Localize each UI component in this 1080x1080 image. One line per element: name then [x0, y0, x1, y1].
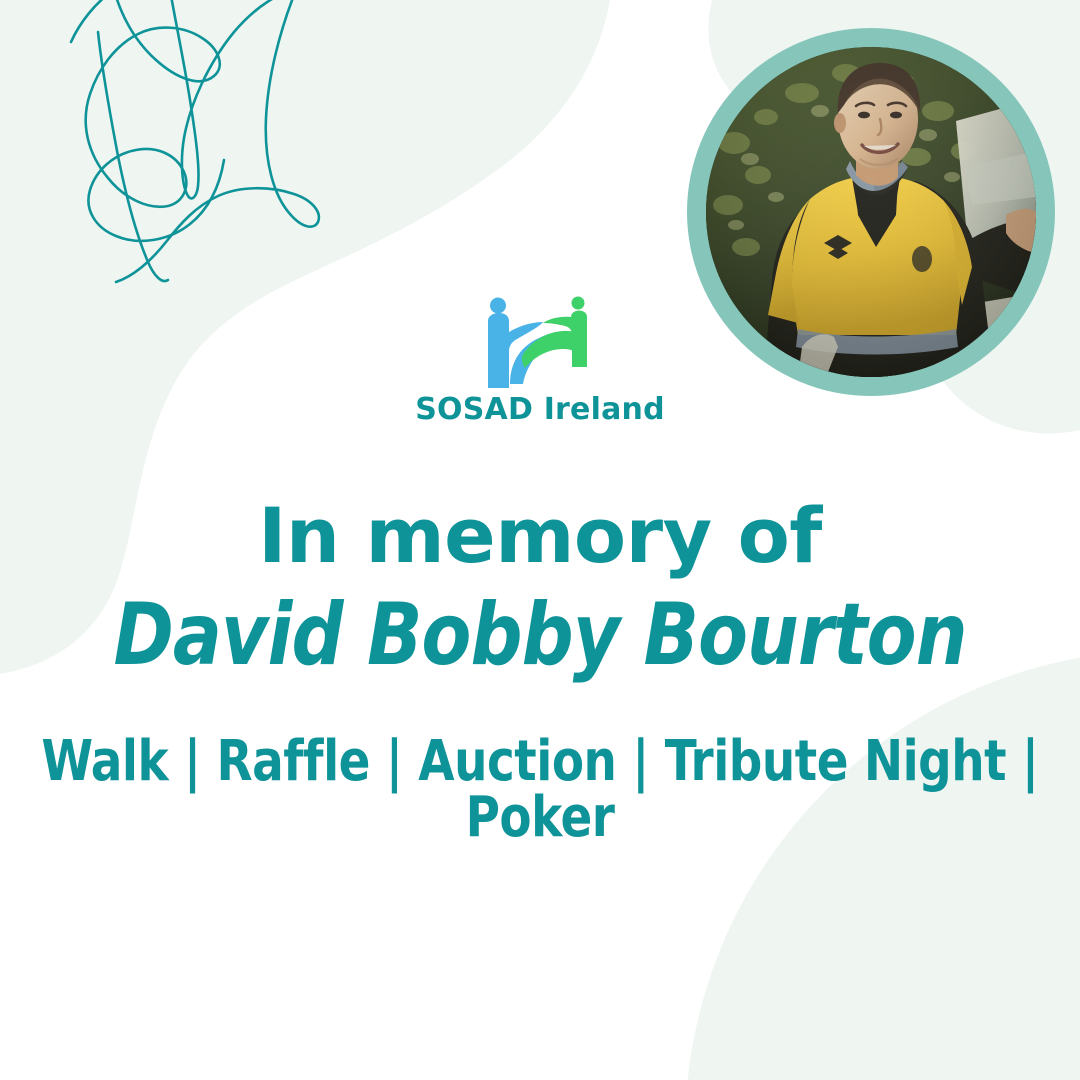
- events-list: Walk | Raffle | Auction | Tribute Night …: [38, 734, 1042, 846]
- in-memory-of-line: In memory of: [0, 498, 1080, 574]
- hand-drawn-scribble-icon: [18, 0, 358, 290]
- honoree-name: David Bobby Bourton: [32, 592, 1047, 678]
- mint-circle-bottom-right: [685, 650, 1080, 1080]
- headline-block: In memory of David Bobby Bourton: [0, 498, 1080, 678]
- sosad-logo-mark-icon: [477, 296, 603, 388]
- sosad-logo-text: SOSAD Ireland: [415, 395, 665, 425]
- sosad-logo: SOSAD Ireland: [0, 296, 1080, 425]
- memorial-poster: SOSAD Ireland In memory of David Bobby B…: [0, 0, 1080, 1080]
